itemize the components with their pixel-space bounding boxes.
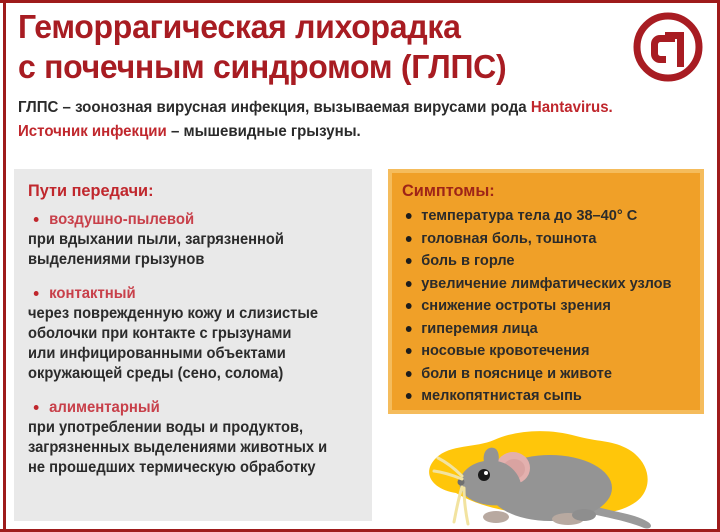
page-title-line-2: с почечным синдромом (ГЛПС) (18, 47, 600, 87)
bullet-dot-icon (406, 236, 412, 242)
symptom-label: увеличение лимфатических узлов (421, 275, 671, 292)
symptom-label: головная боль, тошнота (421, 230, 596, 247)
transmission-route-item: воздушно-пылевой при вдыхании пыли, загр… (28, 211, 358, 270)
route-title-label: воздушно-пылевой (49, 211, 194, 228)
bullet-dot-icon (406, 326, 412, 332)
bullet-dot-icon (406, 213, 412, 219)
bullet-dot-icon (406, 303, 412, 309)
subtitle-genus-name: Hantavirus. (531, 99, 613, 116)
symptom-label: снижение остроты зрения (421, 297, 611, 314)
bullet-dot-icon (34, 291, 39, 296)
mouse-illustration (398, 418, 708, 532)
route-title: контактный (28, 285, 345, 303)
route-description: через поврежденную кожу и слизистые обол… (28, 304, 345, 384)
left-border-rule (3, 3, 6, 529)
symptom-label: носовые кровотечения (421, 342, 589, 359)
bullet-dot-icon (406, 348, 412, 354)
route-description: при вдыхании пыли, загрязненной выделени… (28, 230, 345, 270)
route-title: алиментарный (28, 399, 345, 417)
list-item: боль в горле (402, 250, 680, 273)
bullet-dot-icon (34, 405, 39, 410)
subtitle-source-value: – мышевидные грызуны. (167, 123, 361, 140)
symptom-label: мелкопятнистая сыпь (421, 387, 582, 404)
transmission-routes-panel: Пути передачи: воздушно-пылевой при вдых… (14, 169, 372, 521)
route-title-label: контактный (49, 285, 135, 302)
route-title: воздушно-пылевой (28, 211, 345, 229)
bullet-dot-icon (406, 258, 412, 264)
transmission-route-item: контактный через поврежденную кожу и сли… (28, 285, 358, 384)
list-item: боли в пояснице и животе (402, 363, 680, 386)
symptom-label: температура тела до 38–40° С (421, 207, 637, 224)
list-item: температура тела до 38–40° С (402, 205, 680, 228)
subtitle-source-label: Источник инфекции (18, 123, 167, 140)
symptom-label: гиперемия лица (421, 320, 538, 337)
list-item: головная боль, тошнота (402, 228, 680, 251)
route-title-label: алиментарный (49, 399, 160, 416)
bullet-dot-icon (406, 281, 412, 287)
subtitle-line-2: Источник инфекции – мышевидные грызуны. (18, 121, 600, 143)
list-item: гиперемия лица (402, 318, 680, 341)
list-item: носовые кровотечения (402, 340, 680, 363)
symptoms-panel: Симптомы: температура тела до 38–40° С г… (388, 169, 704, 414)
bullet-dot-icon (34, 217, 39, 222)
page-title-line-1: Геморрагическая лихорадка (18, 7, 600, 47)
list-item: снижение остроты зрения (402, 295, 680, 318)
organization-logo-icon (632, 11, 704, 83)
list-item: мелкопятнистая сыпь (402, 385, 680, 408)
infographic-poster: Геморрагическая лихорадка с почечным син… (0, 0, 720, 532)
symptom-label: боли в пояснице и животе (421, 365, 612, 382)
symptoms-list: температура тела до 38–40° С головная бо… (402, 205, 692, 408)
poster-header: Геморрагическая лихорадка с почечным син… (18, 7, 618, 143)
transmission-panel-heading: Пути передачи: (28, 181, 345, 201)
transmission-route-item: алиментарный при употреблении воды и про… (28, 399, 358, 478)
route-description: при употреблении воды и продуктов, загря… (28, 418, 345, 478)
bullet-dot-icon (406, 371, 412, 377)
symptoms-panel-heading: Симптомы: (402, 181, 680, 201)
bullet-dot-icon (406, 393, 412, 399)
subtitle-line-1: ГЛПС – зоонозная вирусная инфекция, вызы… (18, 97, 600, 119)
subtitle-text-main: ГЛПС – зоонозная вирусная инфекция, вызы… (18, 99, 531, 116)
symptom-label: боль в горле (421, 252, 514, 269)
list-item: увеличение лимфатических узлов (402, 273, 680, 296)
